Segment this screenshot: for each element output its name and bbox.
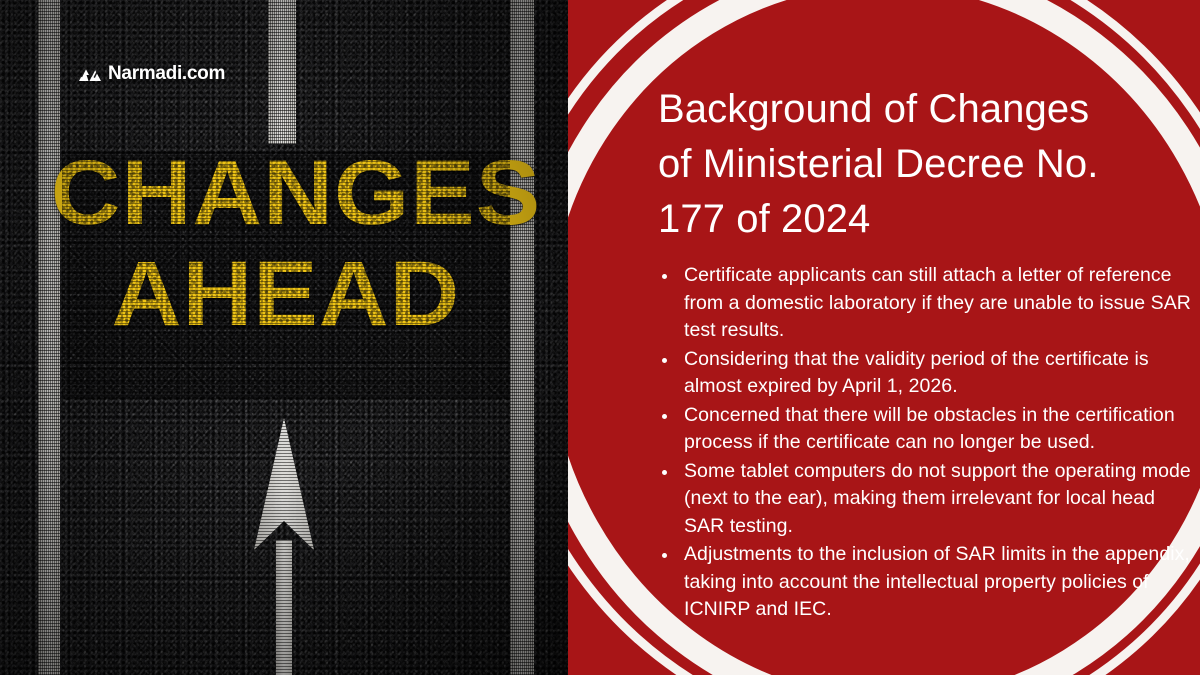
bullet-dot-icon bbox=[662, 414, 667, 419]
bullet-dot-icon bbox=[662, 553, 667, 558]
arrow-head bbox=[254, 418, 314, 550]
bullet-dot-icon bbox=[662, 274, 667, 279]
arrow-shaft bbox=[276, 540, 292, 675]
list-item: Concerned that there will be obstacles i… bbox=[658, 402, 1192, 457]
list-item: Certificate applicants can still attach … bbox=[658, 262, 1192, 344]
up-arrow-road-marking bbox=[248, 418, 318, 675]
watermark-logo[interactable]: Narmadi.com bbox=[78, 63, 225, 85]
list-item-text: Considering that the validity period of … bbox=[684, 348, 1149, 397]
list-item-text: Adjustments to the inclusion of SAR limi… bbox=[684, 543, 1190, 620]
road-headline-line-1: CHANGES bbox=[51, 150, 521, 237]
list-item: Some tablet computers do not support the… bbox=[658, 458, 1192, 540]
red-content-panel: Background of Changes of Ministerial Dec… bbox=[568, 0, 1200, 675]
list-item-text: Certificate applicants can still attach … bbox=[684, 264, 1191, 341]
bullet-dot-icon bbox=[662, 358, 667, 363]
road-headline-line-2: AHEAD bbox=[51, 251, 521, 338]
road-photo-panel: CHANGES AHEAD Narmadi.com bbox=[0, 0, 568, 675]
list-item-text: Concerned that there will be obstacles i… bbox=[684, 404, 1175, 453]
page-title: Background of Changes of Ministerial Dec… bbox=[658, 82, 1192, 246]
bullet-dot-icon bbox=[662, 470, 667, 475]
list-item-text: Some tablet computers do not support the… bbox=[684, 460, 1191, 537]
watermark-label: Narmadi.com bbox=[108, 63, 225, 85]
panel-content: Background of Changes of Ministerial Dec… bbox=[568, 0, 1200, 624]
center-dash-line-marking bbox=[268, 0, 296, 144]
list-item: Considering that the validity period of … bbox=[658, 346, 1192, 401]
road-painted-headline: CHANGES AHEAD bbox=[62, 150, 510, 339]
narmadi-logo-icon bbox=[78, 64, 102, 84]
infographic-slide: CHANGES AHEAD Narmadi.com Background of … bbox=[0, 0, 1200, 675]
bullet-list: Certificate applicants can still attach … bbox=[658, 262, 1192, 623]
list-item: Adjustments to the inclusion of SAR limi… bbox=[658, 541, 1192, 623]
